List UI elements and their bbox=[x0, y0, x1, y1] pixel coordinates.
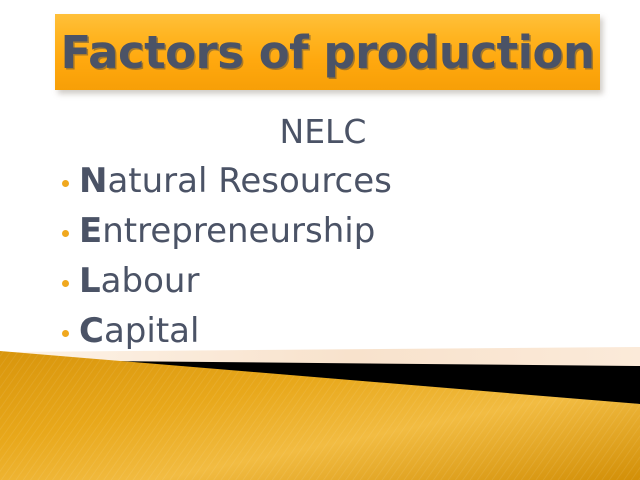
bullet-dot-icon bbox=[62, 280, 69, 287]
bullet-dot-icon bbox=[62, 330, 69, 337]
bullet-initial: C bbox=[79, 311, 104, 351]
bullet-text: apital bbox=[104, 311, 199, 351]
page-title: Factors of production bbox=[60, 26, 594, 79]
bullet-initial: N bbox=[79, 161, 107, 201]
list-item: Capital bbox=[0, 306, 640, 356]
bullet-text: abour bbox=[101, 261, 200, 301]
list-item: Entrepreneurship bbox=[0, 206, 640, 256]
list-item: Natural Resources bbox=[0, 156, 640, 206]
slide-body: NELC Natural Resources Entrepreneurship … bbox=[0, 108, 640, 356]
footer-orange-shape bbox=[0, 351, 640, 480]
footer-orange-texture bbox=[0, 351, 640, 480]
bullet-text: ntrepreneurship bbox=[102, 211, 375, 251]
bullet-initial: L bbox=[79, 261, 101, 301]
bullet-list: Natural Resources Entrepreneurship Labou… bbox=[0, 156, 640, 356]
slide-canvas: Factors of production NELC Natural Resou… bbox=[0, 0, 640, 480]
bullet-initial: E bbox=[79, 211, 102, 251]
bullet-dot-icon bbox=[62, 180, 69, 187]
list-item: Labour bbox=[0, 256, 640, 306]
bullet-dot-icon bbox=[62, 230, 69, 237]
bullet-text: atural Resources bbox=[107, 161, 391, 201]
title-banner: Factors of production bbox=[55, 14, 600, 90]
footer-black-wedge bbox=[0, 360, 640, 404]
subtitle-acronym: NELC bbox=[6, 108, 640, 156]
